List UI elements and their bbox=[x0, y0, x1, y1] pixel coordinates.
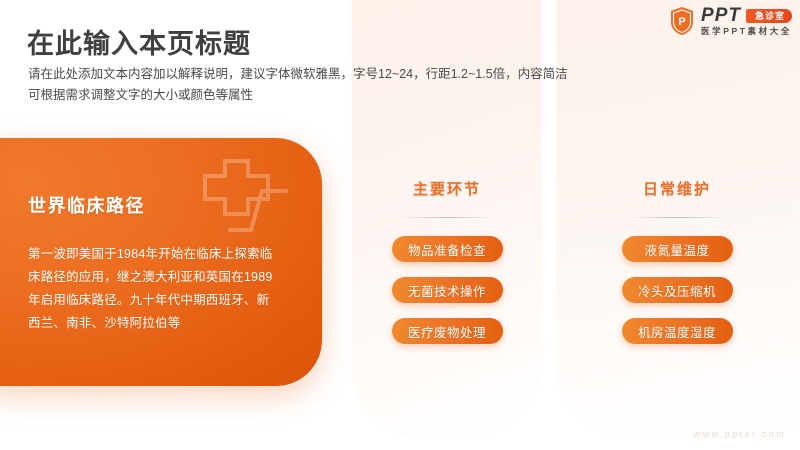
info-card-body: 第一波即美国于1984年开始在临床上探索临床路径的应用，继之澳大利亚和英国在19… bbox=[28, 243, 280, 335]
watermark: www.ppter.com bbox=[694, 429, 786, 439]
logo-top-row: PPT 急诊室 bbox=[701, 6, 792, 25]
logo-brand-text: PPT bbox=[701, 6, 741, 25]
column-main-steps: 主要环节 物品准备检查 无菌技术操作 医疗废物处理 bbox=[358, 178, 536, 344]
column-heading: 主要环节 bbox=[413, 178, 481, 199]
medical-cross-heartbeat-icon bbox=[178, 158, 298, 244]
page-subtitle: 请在此处添加文本内容加以解释说明，建议字体微软雅黑，字号12~24，行距1.2~… bbox=[28, 64, 568, 106]
logo-text-group: PPT 急诊室 医学PPT素材大全 bbox=[701, 6, 792, 36]
logo-badge: 急诊室 bbox=[746, 9, 792, 23]
pill-item[interactable]: 液氮量温度 bbox=[622, 236, 733, 262]
pill-item[interactable]: 医疗废物处理 bbox=[392, 318, 503, 344]
column-heading: 日常维护 bbox=[643, 178, 711, 199]
column-divider bbox=[629, 217, 725, 218]
subtitle-line-2: 可根据需求调整文字的大小或颜色等属性 bbox=[28, 85, 568, 106]
pill-item[interactable]: 无菌技术操作 bbox=[392, 277, 503, 303]
column-daily-maintenance: 日常维护 液氮量温度 冷头及压缩机 机房温度湿度 bbox=[588, 178, 766, 344]
pill-list: 液氮量温度 冷头及压缩机 机房温度湿度 bbox=[622, 236, 733, 344]
shield-icon: P bbox=[669, 6, 695, 36]
brand-logo[interactable]: P PPT 急诊室 医学PPT素材大全 bbox=[669, 6, 792, 36]
pill-item[interactable]: 物品准备检查 bbox=[392, 236, 503, 262]
logo-tagline: 医学PPT素材大全 bbox=[701, 26, 792, 36]
slide-canvas: 在此输入本页标题 请在此处添加文本内容加以解释说明，建议字体微软雅黑，字号12~… bbox=[0, 0, 800, 450]
column-divider bbox=[399, 217, 495, 218]
pill-item[interactable]: 机房温度湿度 bbox=[622, 318, 733, 344]
pill-item[interactable]: 冷头及压缩机 bbox=[622, 277, 733, 303]
pill-list: 物品准备检查 无菌技术操作 医疗废物处理 bbox=[392, 236, 503, 344]
subtitle-line-1: 请在此处添加文本内容加以解释说明，建议字体微软雅黑，字号12~24，行距1.2~… bbox=[28, 64, 568, 85]
info-card: 世界临床路径 第一波即美国于1984年开始在临床上探索临床路径的应用，继之澳大利… bbox=[0, 138, 322, 386]
info-card-title: 世界临床路径 bbox=[28, 192, 145, 218]
page-title: 在此输入本页标题 bbox=[27, 22, 251, 61]
svg-text:P: P bbox=[678, 16, 685, 28]
